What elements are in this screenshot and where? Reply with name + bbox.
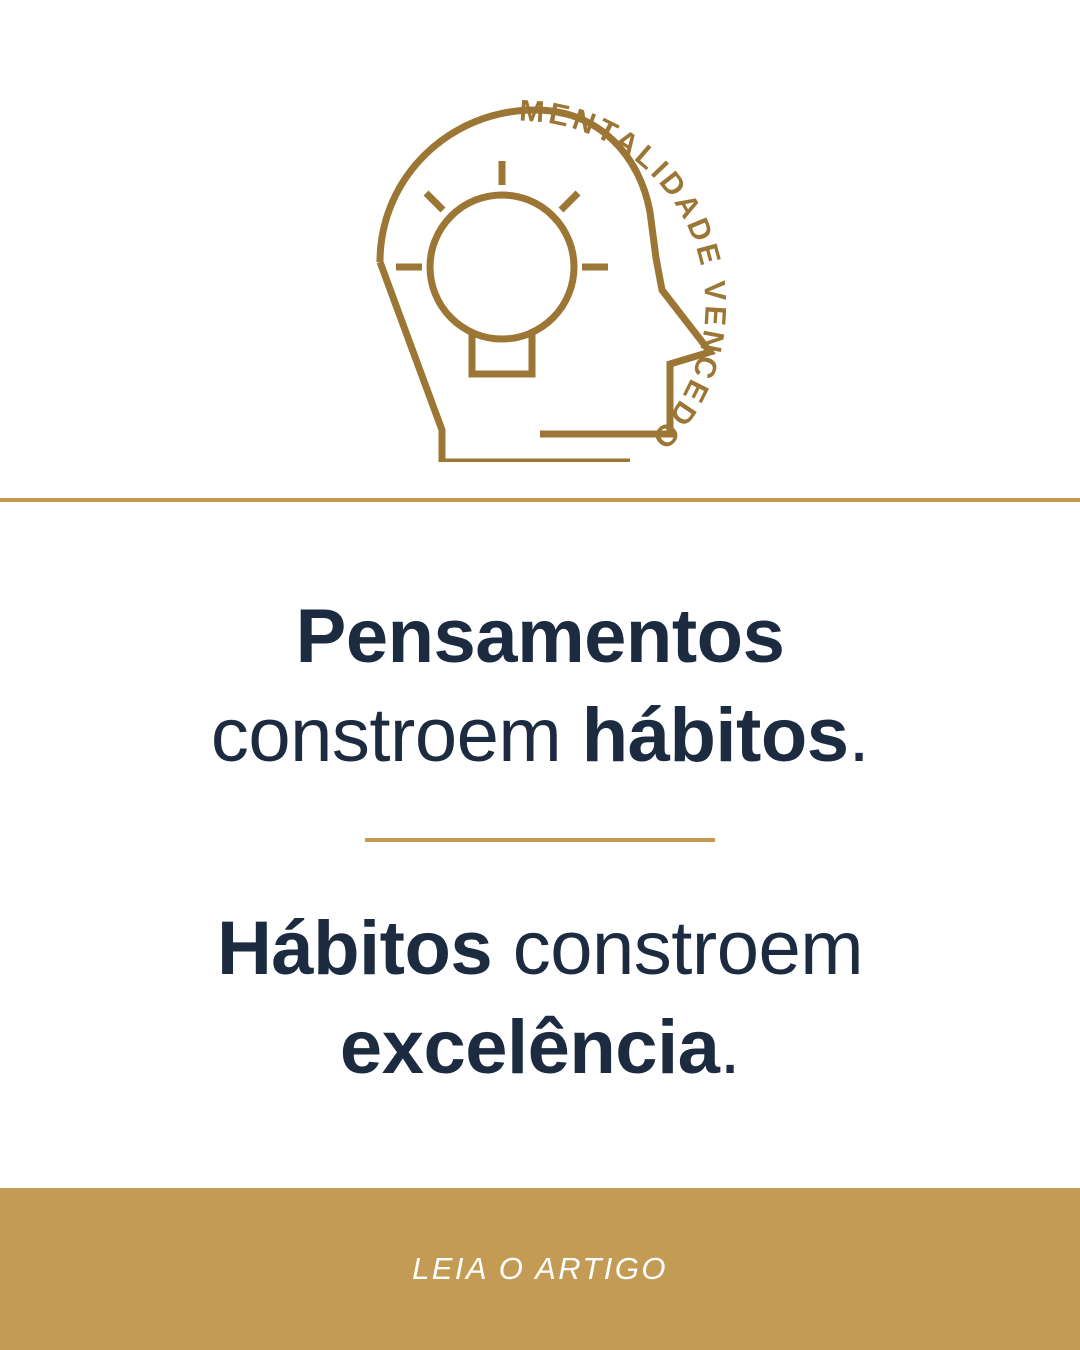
quote-line4-bold: excelência <box>340 1005 720 1090</box>
quote-line3-regular: constroem <box>492 906 863 991</box>
logo-arc-text: MENTALIDADE VENCEDORA <box>350 62 730 457</box>
head-with-lightbulb-icon: MENTALIDADE VENCEDORA <box>350 62 730 462</box>
quote-line2-period: . <box>849 693 870 778</box>
quote-line2-bold: hábitos <box>582 693 849 778</box>
quote-separator <box>365 838 715 842</box>
read-article-label: LEIA O ARTIGO <box>412 1251 668 1287</box>
brand-logo: MENTALIDADE VENCEDORA <box>350 62 730 462</box>
quote-part-two: Hábitos constroem excelência. <box>100 900 980 1098</box>
quote-zone: Pensamentos constroem hábitos. Hábitos c… <box>0 502 1080 1188</box>
quote-part-one: Pensamentos constroem hábitos. <box>100 588 980 786</box>
quote-line4-period: . <box>719 1005 740 1090</box>
quote-line2-regular: constroem <box>211 693 582 778</box>
lightbulb-icon <box>396 161 608 374</box>
logo-arc-textpath: MENTALIDADE VENCEDORA <box>350 62 730 457</box>
read-article-cta[interactable]: LEIA O ARTIGO <box>0 1188 1080 1350</box>
quote-line1-bold: Pensamentos <box>296 594 785 679</box>
logo-zone: MENTALIDADE VENCEDORA <box>0 0 1080 500</box>
social-post-card: MENTALIDADE VENCEDORA Pensamentos constr… <box>0 0 1080 1350</box>
quote-line3-bold: Hábitos <box>217 906 492 991</box>
